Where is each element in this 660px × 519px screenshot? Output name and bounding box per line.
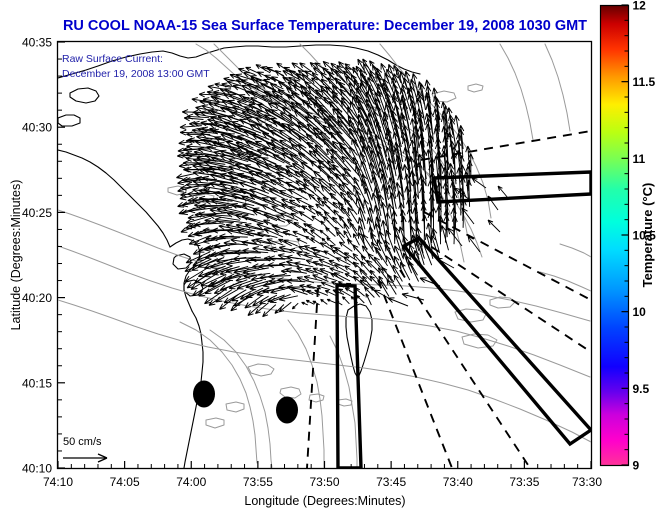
y-tick-label: 40:20: [22, 291, 52, 305]
x-tick-label: 73:50: [309, 475, 339, 489]
annotation-line2: December 19, 2008 13:00 GMT: [62, 68, 210, 80]
x-tick-label: 73:30: [572, 475, 602, 489]
x-tick-label: 74:05: [110, 475, 140, 489]
x-axis-title: Longitude (Degrees:Minutes): [244, 494, 405, 508]
y-tick-label: 40:10: [22, 462, 52, 476]
scale-legend-label: 50 cm/s: [63, 436, 102, 448]
y-tick-label: 40:30: [22, 121, 52, 135]
x-tick-label: 73:40: [443, 475, 473, 489]
sst-surface-current-figure: RU COOL NOAA-15 Sea Surface Temperature:…: [0, 0, 660, 519]
colorbar-tick-label: 12: [633, 0, 647, 13]
x-tick-label: 74:10: [43, 475, 73, 489]
colorbar-tick-label: 9.5: [633, 382, 650, 396]
y-tick-label: 40:25: [22, 206, 52, 220]
colorbar-tick-label: 11.5: [633, 75, 656, 89]
x-tick-label: 73:35: [509, 475, 539, 489]
annotation-line1: Raw Surface Current:: [62, 53, 163, 65]
station-marker-east: [276, 397, 298, 424]
x-tick-label: 73:55: [243, 475, 273, 489]
x-tick-label: 74:00: [176, 475, 206, 489]
station-marker-west: [193, 381, 215, 408]
page-title: RU COOL NOAA-15 Sea Surface Temperature:…: [63, 18, 587, 34]
colorbar-title: Temperature (°C): [640, 183, 655, 288]
colorbar-tick-label: 10: [633, 305, 647, 319]
colorbar-tick-label: 11: [633, 152, 646, 166]
y-tick-label: 40:35: [22, 36, 52, 50]
colorbar-tick-label: 9: [633, 459, 640, 473]
y-tick-label: 40:15: [22, 376, 52, 390]
x-tick-label: 73:45: [376, 475, 406, 489]
y-axis-title: Latitude (Degrees:Minutes): [9, 180, 23, 331]
